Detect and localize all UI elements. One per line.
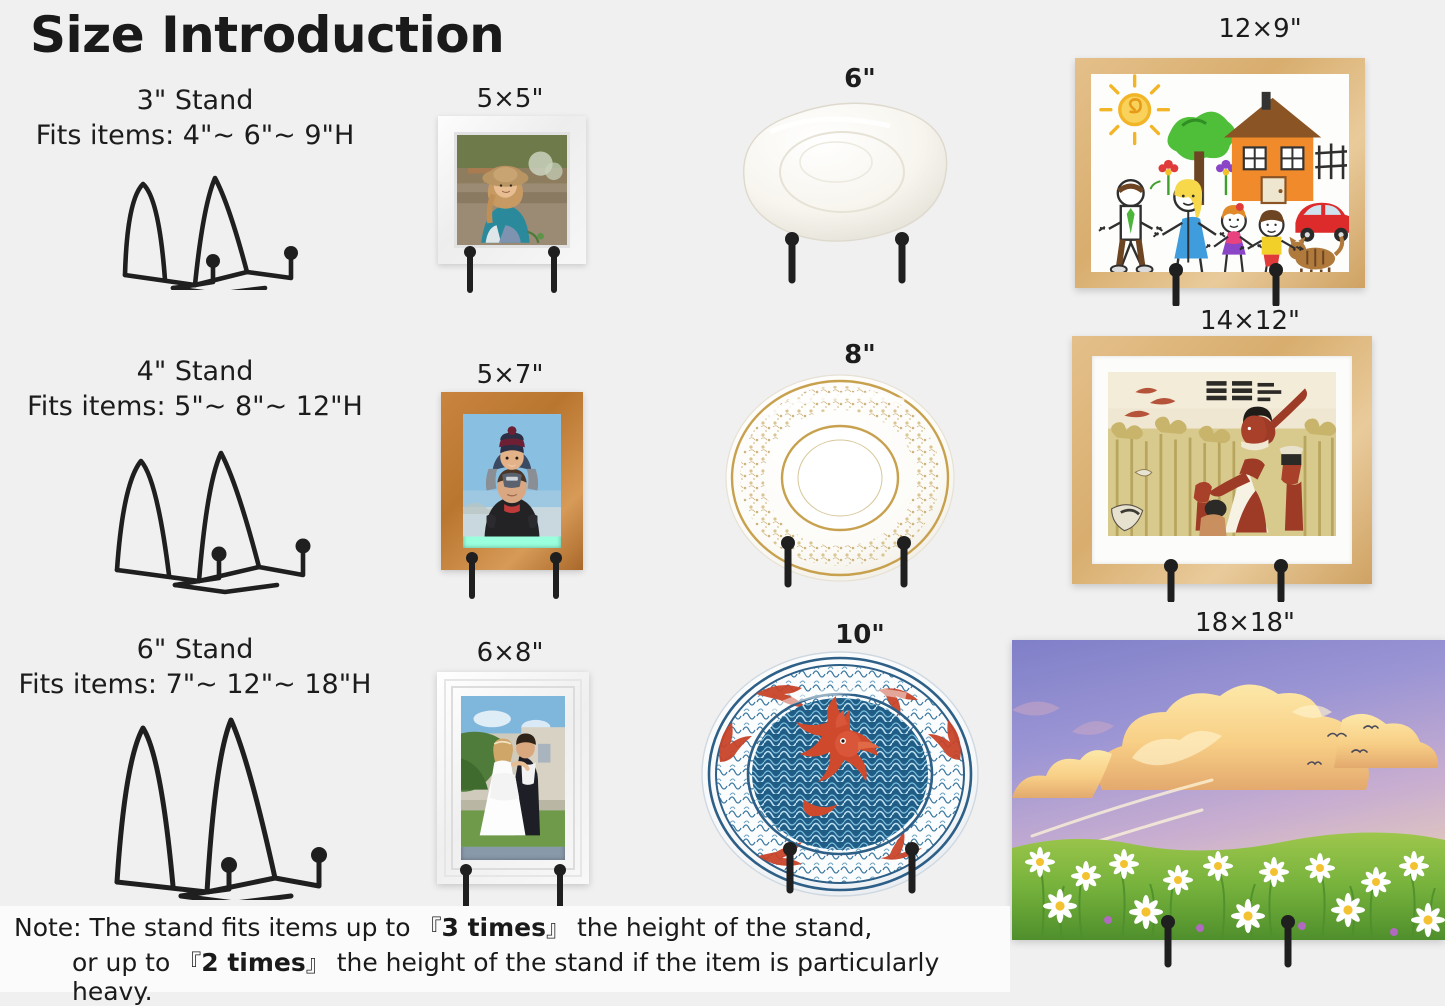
frame-size-label-3: 6×8" <box>415 638 605 668</box>
wire-easel-4in <box>95 435 325 595</box>
wire-stand-frame-5x5 <box>448 242 578 294</box>
wire-stand-plate-8in <box>770 532 926 588</box>
wire-stand-artwork-14x12 <box>1155 558 1301 602</box>
note-line2-emphasis: 2 times <box>201 948 306 977</box>
wire-stand-artwork-18x18 <box>1150 914 1310 970</box>
wire-stand-plate-6in <box>772 228 924 284</box>
photo-girl-in-sun-hat <box>454 132 570 248</box>
artwork-size-label-2: 14×12" <box>1120 306 1380 336</box>
stand-name-2: 4" Stand <box>0 355 390 390</box>
infographic-canvas: Size Introduction 3" Stand Fits items: 4… <box>0 0 1445 984</box>
note-line-2: or up to 『2 times』 the height of the sta… <box>0 949 1010 1006</box>
photo-wedding-couple <box>461 696 565 860</box>
stand-name-3: 6" Stand <box>0 633 390 668</box>
artwork-size-label-1: 12×9" <box>1130 14 1390 44</box>
stand-label-2: 4" Stand Fits items: 5"~ 8"~ 12"H <box>0 355 390 424</box>
wire-easel-3in <box>95 160 325 290</box>
artwork-child-drawing <box>1091 74 1349 272</box>
note-line-1: Note: The stand fits items up to 『3 time… <box>0 914 1010 943</box>
wire-stand-plate-10in <box>770 838 934 894</box>
painting-daisy-field-clouds <box>1012 640 1445 940</box>
note-line1-emphasis: 3 times <box>441 913 546 942</box>
wire-stand-frame-5x7 <box>452 548 580 600</box>
wire-stand-artwork-12x9 <box>1160 262 1294 306</box>
stand-fits-2: Fits items: 5"~ 8"~ 12"H <box>0 390 390 425</box>
artwork-canvas-18x18 <box>1012 640 1445 940</box>
note-line1-after: the height of the stand, <box>569 913 872 942</box>
stand-label-3: 6" Stand Fits items: 7"~ 12"~ 18"H <box>0 633 390 702</box>
footer-note: Note: The stand fits items up to 『3 time… <box>0 906 1010 992</box>
stand-name-1: 3" Stand <box>0 84 390 119</box>
page-title: Size Introduction <box>30 6 504 64</box>
stand-fits-1: Fits items: 4"~ 6"~ 9"H <box>0 119 390 154</box>
bracket-open-2: 『 <box>178 951 201 977</box>
plate-size-label-1: 6" <box>760 64 960 94</box>
wire-stand-frame-6x8 <box>448 862 580 910</box>
note-line1-before: Note: The stand fits items up to <box>14 913 418 942</box>
plate-size-label-2: 8" <box>760 340 960 370</box>
note-line2-before: or up to <box>72 948 178 977</box>
stand-fits-3: Fits items: 7"~ 12"~ 18"H <box>0 668 390 703</box>
artwork-size-label-3: 18×18" <box>1100 608 1390 638</box>
bracket-open-1: 『 <box>418 916 441 942</box>
artwork-frame-14x12 <box>1072 336 1372 584</box>
bracket-close-2: 』 <box>306 951 329 977</box>
stand-label-1: 3" Stand Fits items: 4"~ 6"~ 9"H <box>0 84 390 153</box>
frame-size-label-2: 5×7" <box>415 360 605 390</box>
photo-frame-5x7 <box>441 392 583 570</box>
bracket-close-1: 』 <box>546 916 569 942</box>
artwork-frame-12x9 <box>1075 58 1365 288</box>
photo-frame-6x8 <box>437 672 589 884</box>
plate-size-label-3: 10" <box>760 620 960 650</box>
wire-easel-6in <box>95 700 335 900</box>
photo-father-and-child <box>463 414 561 548</box>
frame-size-label-1: 5×5" <box>415 84 605 114</box>
artwork-egyptian-painting <box>1092 356 1352 564</box>
